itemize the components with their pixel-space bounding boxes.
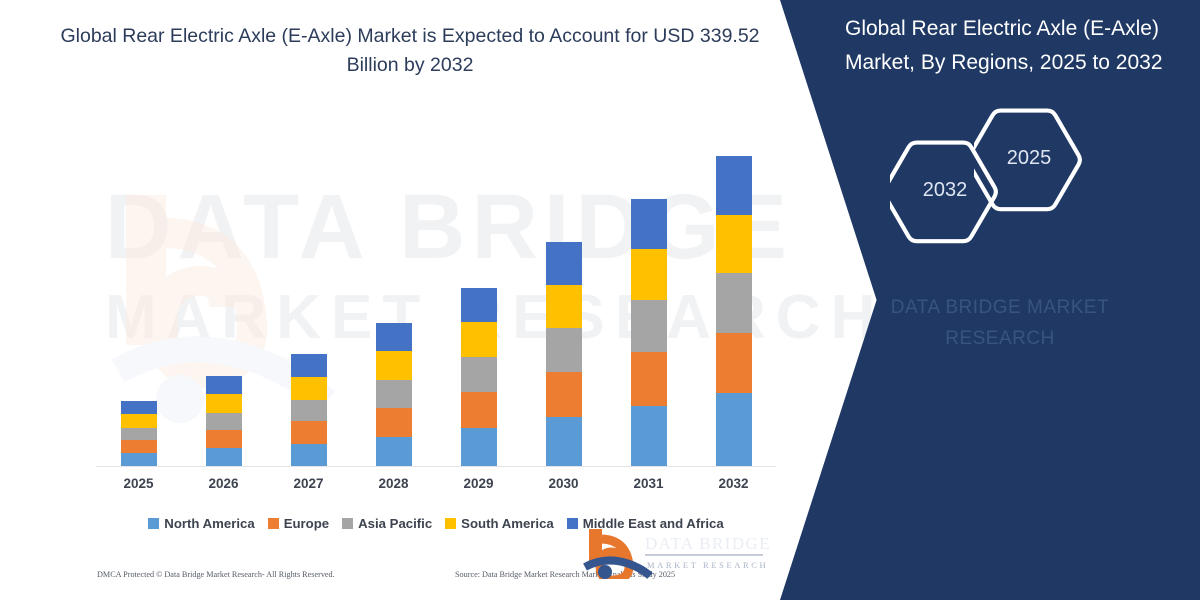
bar-segment	[546, 417, 582, 466]
bar-segment	[716, 273, 752, 333]
bar-segment	[206, 394, 242, 413]
legend-swatch-icon	[342, 518, 353, 529]
bar-segment	[206, 448, 242, 466]
x-axis-label: 2026	[206, 476, 242, 498]
bar-segment	[631, 249, 667, 300]
bar-segment	[716, 393, 752, 466]
bar-segment	[716, 215, 752, 273]
x-axis-label: 2028	[376, 476, 412, 498]
legend-swatch-icon	[567, 518, 578, 529]
bar-segment	[376, 437, 412, 466]
bar-column	[376, 323, 412, 466]
bar-column	[121, 401, 157, 466]
hexagon-near-year-label: 2025	[974, 108, 1084, 208]
hexagon-group: 2032 2025	[890, 108, 1090, 228]
bar-segment	[376, 323, 412, 351]
x-axis-label: 2030	[546, 476, 582, 498]
bar-segment	[291, 377, 327, 400]
bar-segment	[206, 430, 242, 448]
bar-segment	[631, 352, 667, 406]
bar-column	[546, 242, 582, 466]
bar-segment	[461, 357, 497, 392]
panel-brand-line-2: RESEARCH	[800, 323, 1200, 354]
bar-segment	[716, 333, 752, 393]
hexagon-near-year: 2025	[974, 108, 1084, 208]
bar-segment	[291, 400, 327, 421]
bar-group	[96, 110, 776, 466]
legend-swatch-icon	[268, 518, 279, 529]
footer-copyright: DMCA Protected © Data Bridge Market Rese…	[97, 570, 335, 579]
side-panel: Global Rear Electric Axle (E-Axle) Marke…	[780, 0, 1200, 600]
company-logo: DATA BRIDGE MARKET RESEARCH	[583, 523, 773, 579]
bar-segment	[631, 199, 667, 249]
x-axis-label: 2027	[291, 476, 327, 498]
chart-plot-area	[96, 110, 776, 466]
legend-item[interactable]: South America	[445, 516, 554, 531]
bar-segment	[461, 428, 497, 466]
bar-segment	[546, 328, 582, 372]
bar-segment	[631, 300, 667, 352]
bar-column	[631, 199, 667, 466]
bar-segment	[121, 428, 157, 440]
bar-segment	[461, 392, 497, 428]
company-logo-line-2: MARKET RESEARCH	[647, 560, 768, 570]
bar-segment	[376, 380, 412, 408]
x-axis-label: 2031	[631, 476, 667, 498]
panel-heading: Global Rear Electric Axle (E-Axle) Marke…	[845, 12, 1175, 79]
company-logo-mark-icon	[585, 529, 650, 579]
bar-segment	[291, 421, 327, 444]
page-title: Global Rear Electric Axle (E-Axle) Marke…	[60, 22, 760, 81]
bar-segment	[376, 351, 412, 380]
bar-segment	[461, 322, 497, 357]
legend-item[interactable]: Europe	[268, 516, 329, 531]
x-axis-labels: 20252026202720282029203020312032	[96, 476, 776, 498]
bar-segment	[121, 414, 157, 428]
infographic-canvas: DATA BRIDGE MARKET RESEARCH Global Rear …	[0, 0, 1200, 600]
legend-swatch-icon	[148, 518, 159, 529]
x-axis-label: 2029	[461, 476, 497, 498]
bar-segment	[291, 354, 327, 377]
bar-segment	[546, 242, 582, 285]
bar-segment	[631, 406, 667, 466]
bar-column	[716, 156, 752, 466]
bar-segment	[121, 440, 157, 453]
panel-brand-line-1: DATA BRIDGE MARKET	[800, 292, 1200, 323]
bar-segment	[716, 156, 752, 215]
legend-swatch-icon	[445, 518, 456, 529]
bar-segment	[206, 413, 242, 430]
bar-segment	[121, 401, 157, 414]
bar-segment	[376, 408, 412, 437]
bar-segment	[206, 376, 242, 394]
bar-segment	[546, 285, 582, 328]
legend-label: South America	[461, 516, 554, 531]
legend-label: North America	[164, 516, 254, 531]
legend-item[interactable]: North America	[148, 516, 254, 531]
x-axis-label: 2032	[716, 476, 752, 498]
bar-column	[461, 288, 497, 466]
bar-segment	[546, 372, 582, 417]
panel-brand-text: DATA BRIDGE MARKET RESEARCH	[800, 292, 1200, 355]
bar-segment	[461, 288, 497, 322]
company-logo-line-1: DATA BRIDGE	[645, 534, 771, 553]
legend-label: Europe	[284, 516, 329, 531]
bar-segment	[121, 453, 157, 466]
bar-segment	[291, 444, 327, 466]
x-axis-label: 2025	[121, 476, 157, 498]
legend-item[interactable]: Asia Pacific	[342, 516, 432, 531]
bar-column	[206, 376, 242, 466]
x-axis-line	[96, 466, 776, 467]
legend-label: Asia Pacific	[358, 516, 432, 531]
bar-column	[291, 354, 327, 466]
